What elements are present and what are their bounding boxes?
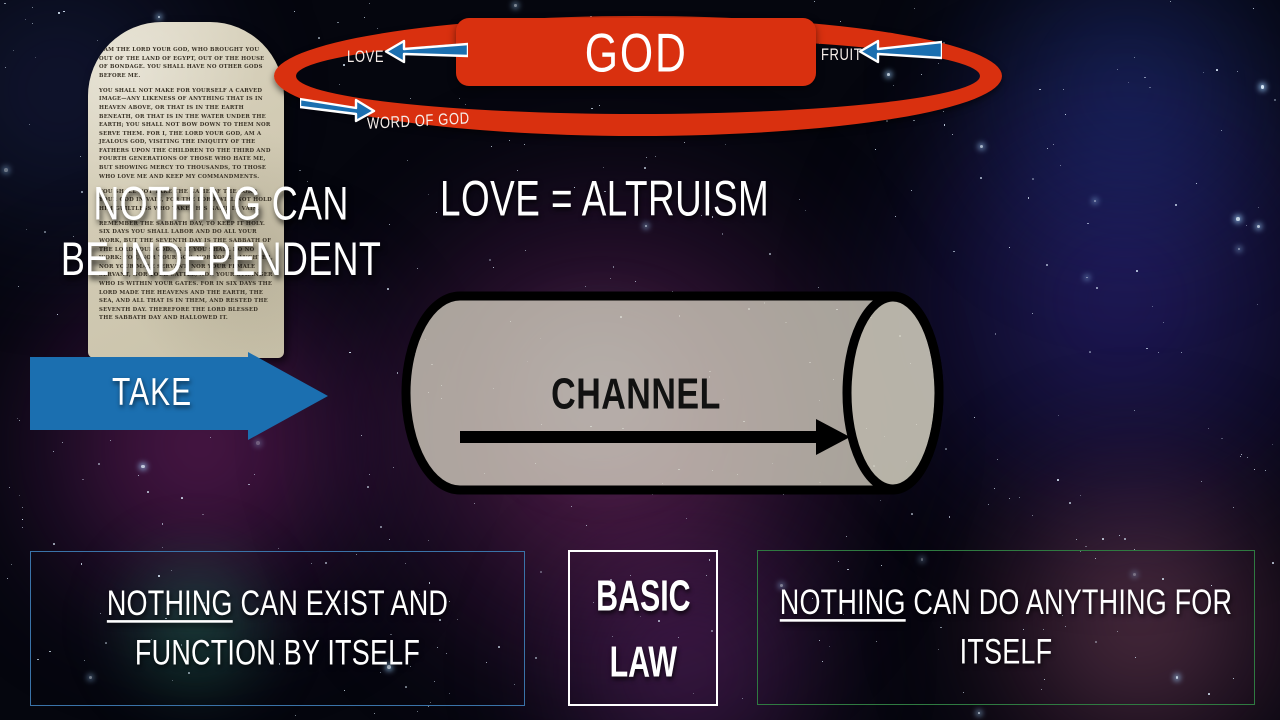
star (436, 212, 437, 213)
star (1047, 148, 1048, 149)
star (1163, 322, 1164, 323)
star (82, 479, 83, 480)
bottom-box-right-text: NOTHING CAN DO ANYTHING FOR ITSELF (758, 578, 1254, 678)
star (428, 194, 429, 195)
star (295, 715, 296, 716)
star (13, 50, 14, 51)
star (1128, 82, 1129, 83)
underlined-word: NOTHING (107, 584, 233, 623)
star (294, 11, 295, 12)
star (278, 548, 279, 549)
star (1019, 497, 1020, 498)
star (524, 144, 525, 145)
star (1257, 304, 1259, 306)
star (571, 506, 572, 507)
star (407, 160, 408, 161)
star (1221, 438, 1223, 440)
star (17, 418, 18, 419)
star (393, 467, 394, 468)
star (389, 224, 390, 225)
star (53, 543, 55, 545)
star (1272, 562, 1274, 564)
star (840, 21, 841, 22)
star (1175, 204, 1176, 205)
star (80, 156, 81, 157)
star (158, 16, 160, 18)
star (875, 149, 876, 150)
star (98, 463, 100, 465)
star (369, 474, 370, 475)
star (1032, 313, 1033, 314)
star (337, 22, 338, 23)
star (162, 547, 163, 548)
star (952, 134, 953, 135)
star (1158, 352, 1159, 353)
fruit-arrow-icon (856, 38, 942, 64)
star (1102, 538, 1104, 540)
star (369, 3, 370, 4)
star (805, 210, 806, 211)
star (1233, 507, 1234, 508)
star (1119, 535, 1120, 536)
underlined-word: NOTHING (780, 583, 906, 622)
star (525, 250, 526, 251)
word-of-god-arrow-icon (300, 95, 376, 123)
star (517, 170, 518, 171)
star (895, 216, 896, 217)
star (603, 167, 605, 169)
star (769, 253, 771, 255)
star (22, 527, 23, 528)
star (1203, 72, 1204, 73)
star (489, 259, 490, 260)
star (1039, 89, 1040, 90)
star (380, 526, 382, 528)
star (417, 268, 418, 269)
star (1272, 444, 1273, 445)
star (686, 518, 687, 519)
star (1046, 264, 1048, 266)
star (58, 12, 59, 13)
star (5, 67, 6, 68)
star (1134, 57, 1135, 58)
star (318, 37, 320, 39)
star (994, 488, 995, 489)
star (1241, 454, 1242, 455)
star (1149, 87, 1151, 89)
star (32, 23, 33, 24)
star (995, 333, 996, 334)
bottom-box-left: NOTHING CAN EXIST AND FUNCTION BY ITSELF (30, 551, 525, 706)
star (364, 17, 365, 18)
star (974, 417, 975, 418)
star (913, 120, 915, 122)
star (9, 487, 10, 488)
star (1170, 1, 1171, 2)
star (254, 474, 255, 475)
star (1065, 114, 1066, 115)
star (725, 144, 726, 145)
star (1238, 248, 1241, 251)
star (1028, 197, 1030, 199)
star (1208, 428, 1209, 429)
star (22, 519, 23, 520)
slide-canvas: I AM THE LORD YOUR GOD, WHO BROUGHT YOU … (0, 0, 1280, 720)
star (32, 7, 33, 8)
star (655, 156, 656, 157)
star (493, 267, 494, 268)
star (953, 251, 954, 252)
star (1094, 200, 1096, 202)
star (18, 286, 19, 287)
star (613, 266, 615, 268)
star (1181, 352, 1182, 353)
god-label: GOD (584, 25, 687, 80)
star (1087, 223, 1088, 224)
love-equals-altruism-label: LOVE = ALTRUISM (440, 172, 769, 229)
star (147, 491, 149, 493)
take-label: TAKE (112, 371, 192, 415)
star (63, 11, 64, 12)
star (491, 146, 492, 147)
star (509, 140, 510, 141)
star (911, 513, 913, 515)
star (742, 698, 743, 699)
star (1237, 71, 1238, 72)
star (141, 465, 145, 469)
star (377, 28, 378, 29)
star (181, 497, 183, 499)
star (1258, 207, 1259, 208)
basic-law-box: BASIC LAW (568, 550, 718, 706)
star (35, 57, 36, 58)
star (53, 451, 54, 452)
star (988, 504, 989, 505)
star (7, 578, 8, 579)
star (799, 199, 800, 200)
star (1221, 130, 1222, 131)
star (1216, 69, 1218, 71)
star (1134, 410, 1135, 411)
star (1247, 457, 1248, 458)
star (1089, 351, 1091, 353)
star (428, 706, 429, 707)
star (138, 475, 139, 476)
star (1152, 306, 1153, 307)
bottom-box-right: NOTHING CAN DO ANYTHING FOR ITSELF (757, 550, 1255, 705)
star (1274, 99, 1275, 100)
star (1053, 144, 1054, 145)
star (389, 539, 390, 540)
star (1253, 8, 1254, 9)
star (1246, 225, 1247, 226)
tablet-paragraph: YOU SHALL NOT MAKE FOR YOURSELF A CARVED… (99, 87, 273, 181)
basic-law-label: BASIC LAW (596, 563, 690, 694)
star (585, 286, 586, 287)
star (1236, 217, 1240, 221)
star (1058, 415, 1059, 416)
star (610, 278, 611, 279)
star (978, 712, 980, 714)
star (1085, 546, 1086, 547)
star (474, 503, 475, 504)
star (26, 229, 28, 231)
star (1265, 470, 1267, 472)
star (387, 288, 388, 289)
bottom-box-left-text: NOTHING CAN EXIST AND FUNCTION BY ITSELF (31, 579, 524, 679)
star (1201, 481, 1202, 482)
star (1032, 515, 1033, 516)
star (1254, 469, 1255, 470)
star (1009, 498, 1010, 499)
channel-label: CHANNEL (398, 370, 874, 420)
star (248, 484, 249, 485)
star (684, 142, 685, 143)
star (886, 120, 888, 122)
star (980, 177, 982, 179)
star (1146, 348, 1148, 350)
star (514, 4, 516, 6)
star (1060, 165, 1061, 166)
star (1144, 77, 1146, 79)
star (1240, 456, 1241, 457)
star (349, 352, 351, 354)
star (943, 111, 944, 112)
ring-label-love: LOVE (347, 47, 384, 66)
star (1009, 247, 1010, 248)
star (944, 124, 946, 126)
star (1086, 277, 1088, 279)
star (417, 711, 418, 712)
star (997, 459, 998, 460)
star (1117, 69, 1118, 70)
star (1057, 479, 1059, 481)
star (540, 571, 542, 573)
star (1080, 495, 1081, 496)
star (202, 514, 204, 516)
star (57, 314, 58, 315)
star (29, 124, 31, 126)
star (914, 8, 915, 9)
star (846, 536, 847, 537)
star (1063, 89, 1064, 90)
star (22, 507, 23, 508)
star (535, 657, 536, 658)
page-title: NOTHING CAN BE INDEPENDENT (56, 176, 386, 288)
star (1124, 538, 1125, 539)
star (911, 190, 912, 191)
star (1196, 183, 1197, 184)
star (1261, 85, 1265, 89)
star (97, 40, 98, 41)
star (256, 441, 260, 445)
star (644, 167, 646, 169)
star (11, 564, 12, 565)
star (1032, 178, 1034, 180)
love-arrow-icon (382, 38, 468, 64)
star (1096, 287, 1097, 288)
star (25, 19, 26, 20)
star (880, 500, 881, 501)
star (62, 442, 63, 443)
star (4, 3, 6, 5)
star (635, 281, 636, 282)
star (19, 495, 20, 496)
star (814, 1, 815, 2)
star (19, 420, 20, 421)
tablet-paragraph: I AM THE LORD YOUR GOD, WHO BROUGHT YOU … (99, 46, 273, 80)
star (162, 523, 163, 524)
star (367, 486, 369, 488)
star (1136, 270, 1138, 272)
god-box: GOD (456, 18, 816, 86)
star (1257, 225, 1260, 228)
star (299, 170, 300, 171)
star (980, 145, 983, 148)
star (428, 540, 429, 541)
star (1076, 539, 1077, 540)
star (4, 168, 8, 172)
star (949, 516, 950, 517)
star (646, 157, 648, 159)
star (722, 233, 723, 234)
star (586, 525, 587, 526)
star (1069, 502, 1071, 504)
star (44, 231, 46, 233)
star (361, 435, 362, 436)
star (374, 713, 375, 714)
